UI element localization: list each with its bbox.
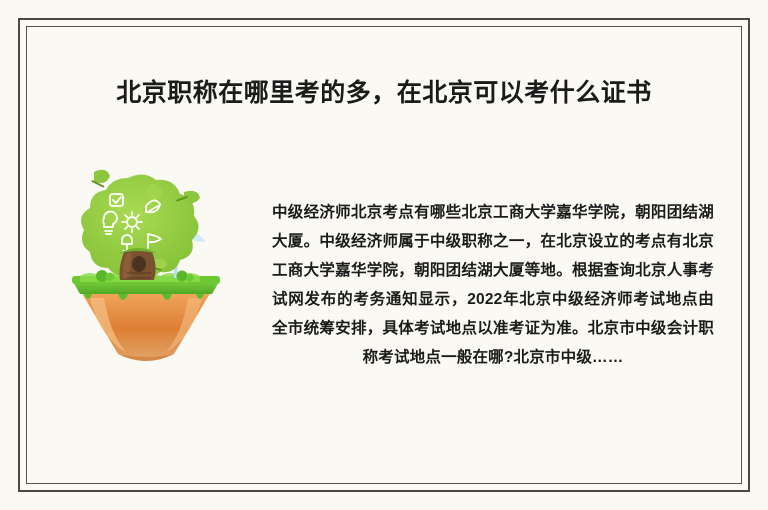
island-soil [80, 290, 212, 361]
page-title: 北京职称在哪里考的多，在北京可以考什么证书 [0, 76, 768, 110]
tree-house [118, 248, 158, 280]
content-area: 中级经济师北京考点有哪些北京工商大学嘉华学院，朝阳团结湖大厦。中级经济师属于中级… [26, 160, 742, 410]
eco-floating-island-illustration [66, 168, 226, 368]
article-body-text: 中级经济师北京考点有哪些北京工商大学嘉华学院，朝阳团结湖大厦。中级经济师属于中级… [272, 198, 714, 372]
leaf-tag-icon-top [91, 170, 110, 188]
